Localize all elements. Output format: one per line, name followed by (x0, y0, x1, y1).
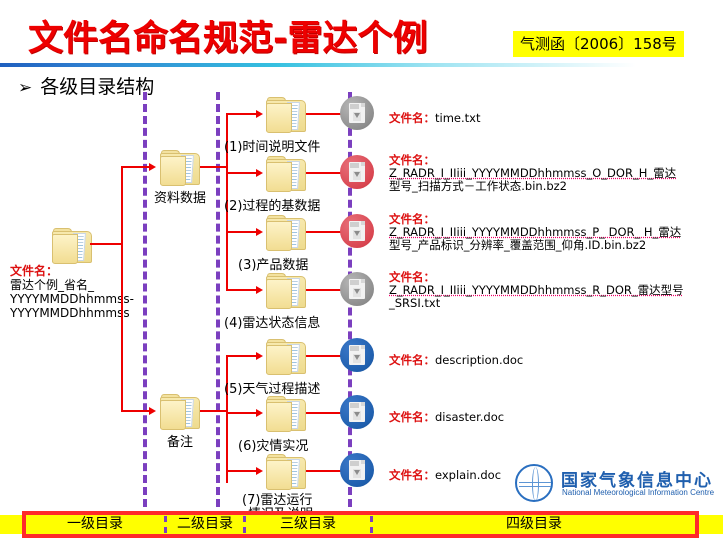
globe-icon (515, 464, 553, 502)
file-disk-icon-3[interactable] (340, 272, 374, 306)
file-disk-icon-6[interactable] (340, 453, 374, 487)
folder-icon-level2-1[interactable] (160, 394, 200, 428)
file-disk-icon-2[interactable] (340, 214, 374, 248)
legend-cell-0: 一级目录 (26, 515, 164, 534)
header-divider (0, 63, 723, 67)
file-name-label-5: 文件名： (389, 410, 435, 424)
legend-cell-3: 四级目录 (373, 515, 695, 534)
legend-bar: 一级目录 二级目录 三级目录 四级目录 (22, 511, 699, 538)
arrowhead-level3-2 (256, 228, 263, 236)
connector-level3-3 (226, 289, 259, 291)
file-name-3: 文件名： Z_RADR_I_IIiii_YYYYMMDDhhmmss_R_DOR… (389, 271, 684, 310)
folder-label-level2-0: 资料数据 (148, 187, 212, 206)
folder-label-level3-5: (6)灾情实况 (238, 435, 308, 454)
folder-icon-level3-4[interactable] (266, 339, 306, 373)
file-name-label-3: 文件名： (389, 270, 435, 284)
connector-root-out (90, 243, 123, 245)
folder-icon-level3-0[interactable] (266, 97, 306, 131)
file-disk-icon-4[interactable] (340, 338, 374, 372)
file-name-value-3-line1: Z_RADR_I_IIiii_YYYYMMDDhhmmss_R_DOR_雷达型号 (389, 283, 684, 297)
connector-to-level2-a (121, 166, 151, 168)
column-separator-2 (216, 92, 220, 507)
file-name-value-1-line2: 型号_扫描方式－工作状态.bin.bz2 (389, 179, 567, 193)
root-filename-line3: YYYYMMDDhhmmss (10, 306, 130, 320)
connector-level3-6 (226, 470, 259, 472)
section-subtitle: ➢各级目录结构 (18, 72, 154, 99)
root-filename-line2: YYYYMMDDhhmmss- (10, 292, 134, 306)
root-filename-label: 文件名： (10, 264, 160, 278)
file-disk-icon-0[interactable] (340, 96, 374, 130)
bullet-arrow-icon: ➢ (18, 78, 32, 98)
page-title: 文件名命名规范-雷达个例 (28, 10, 428, 61)
arrowhead-level2-b (149, 407, 156, 415)
slide-canvas: 文件名命名规范-雷达个例 气测函〔2006〕158号 ➢各级目录结构 文件名： … (0, 0, 723, 546)
connector-level3-4 (226, 355, 259, 357)
file-name-0: 文件名：time.txt (389, 112, 480, 125)
file-name-5: 文件名：disaster.doc (389, 411, 504, 424)
file-name-4: 文件名：description.doc (389, 354, 523, 367)
connector-level3-1 (226, 172, 259, 174)
connector-level3-0 (226, 113, 259, 115)
connector-trunk (121, 166, 123, 411)
folder-icon-level2-0[interactable] (160, 150, 200, 184)
arrowhead-level3-4 (256, 352, 263, 360)
arrowhead-level3-6 (256, 467, 263, 475)
file-name-value-2-line1: Z_RADR_I_IIiii_YYYYMMDDhhmmss_P_ DOR_ H_… (389, 225, 681, 239)
bus-level3-bottom (226, 355, 228, 483)
folder-label-level3-3: (4)雷达状态信息 (224, 312, 320, 331)
folder-label-level3-0: (1)时间说明文件 (224, 136, 320, 155)
connector-level2a-out (200, 166, 228, 168)
file-disk-icon-1[interactable] (340, 155, 374, 189)
connector-level3-2 (226, 231, 259, 233)
file-name-value-5: disaster.doc (435, 410, 504, 424)
folder-icon-level3-2[interactable] (266, 215, 306, 249)
file-name-6: 文件名：explain.doc (389, 469, 501, 482)
file-disk-icon-5[interactable] (340, 395, 374, 429)
file-name-value-1-line1: Z_RADR_I_IIiii_YYYYMMDDhhmmss_O_DOR_H_雷达 (389, 166, 676, 180)
file-name-label-1: 文件名： (389, 153, 435, 167)
file-name-value-3-line2: _SRSI.txt (389, 296, 440, 310)
legend-strip-right (699, 515, 723, 534)
file-name-value-0: time.txt (435, 111, 480, 125)
folder-icon-level3-1[interactable] (266, 156, 306, 190)
connector-to-level2-b (121, 410, 151, 412)
legend-cell-2: 三级目录 (246, 515, 370, 534)
file-name-2: 文件名： Z_RADR_I_IIiii_YYYYMMDDhhmmss_P_ DO… (389, 213, 681, 252)
subtitle-text: 各级目录结构 (40, 76, 154, 98)
file-name-value-4: description.doc (435, 353, 523, 367)
folder-label-level3-2: (3)产品数据 (238, 254, 308, 273)
folder-label-level3-4: (5)天气过程描述 (224, 378, 320, 397)
nmic-logo: 国家气象信息中心 National Meteorological Informa… (515, 461, 720, 505)
folder-icon-root[interactable] (52, 228, 92, 262)
root-filename: 文件名： 雷达个例_省名_ YYYYMMDDhhmmss- YYYYMMDDhh… (10, 264, 160, 320)
file-name-label-0: 文件名： (389, 111, 435, 125)
legend-cell-1: 二级目录 (167, 515, 243, 534)
file-name-value-2-line2: 型号_产品标识_分辨率_覆盖范围_仰角.ID.bin.bz2 (389, 238, 646, 252)
arrowhead-level3-5 (256, 409, 263, 417)
folder-icon-level3-5[interactable] (266, 396, 306, 430)
folder-label-level3-1: (2)过程的基数据 (224, 195, 320, 214)
connector-level3-5 (226, 412, 259, 414)
connector-level2b-out (200, 410, 228, 412)
folder-icon-level3-3[interactable] (266, 273, 306, 307)
arrowhead-level3-1 (256, 169, 263, 177)
arrowhead-level3-0 (256, 110, 263, 118)
file-name-1: 文件名： Z_RADR_I_IIiii_YYYYMMDDhhmmss_O_DOR… (389, 154, 676, 193)
file-name-value-6: explain.doc (435, 468, 501, 482)
file-name-label-4: 文件名： (389, 353, 435, 367)
legend-strip-left (0, 515, 22, 534)
file-name-label-2: 文件名： (389, 212, 435, 226)
arrowhead-level2-a (149, 163, 156, 171)
document-number-badge: 气测函〔2006〕158号 (513, 31, 684, 57)
arrowhead-level3-3 (256, 286, 263, 294)
file-name-label-6: 文件名： (389, 468, 435, 482)
folder-icon-level3-6[interactable] (266, 454, 306, 488)
folder-label-level2-1: 备注 (148, 431, 212, 450)
logo-name-en: National Meteorological Information Cent… (562, 488, 714, 497)
root-filename-line1: 雷达个例_省名_ (10, 278, 94, 292)
